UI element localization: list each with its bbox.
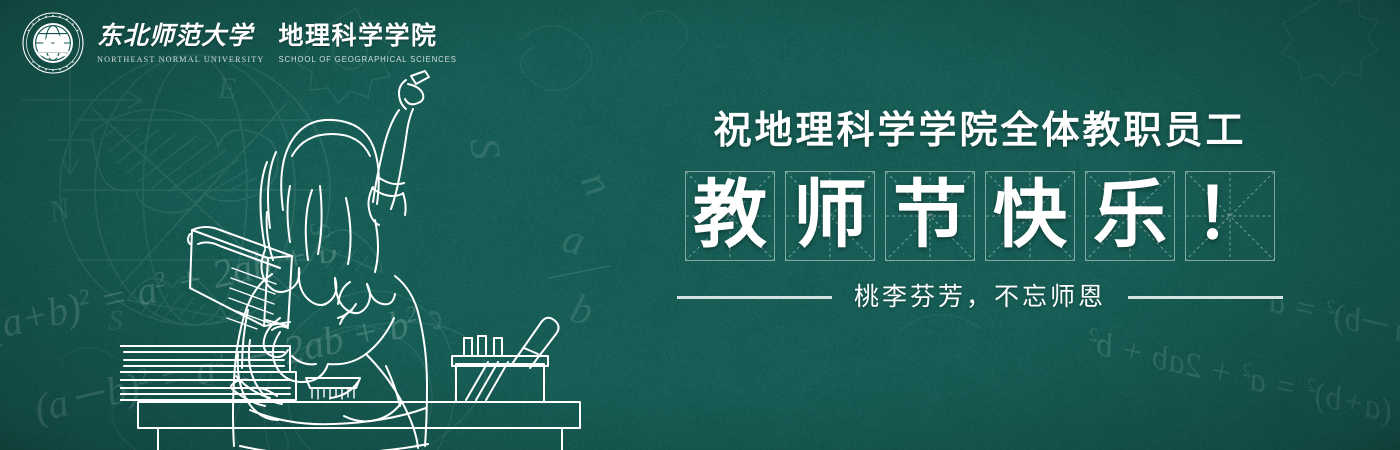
greeting-headline: 祝地理科学学院全体教职员工 [660,112,1300,150]
subtitle-rule-right [1128,296,1283,299]
greeting-cell: ！ [1185,171,1275,261]
teachers-day-banner: E N S S [0,0,1400,450]
greeting-char: 节 [893,179,967,253]
subtitle-rule-left [677,296,832,299]
greeting-char: 快 [993,179,1067,253]
greeting-cell: 教 [685,171,775,261]
school-name-cn: 地理科学学院 [278,24,456,50]
university-name-cn: 东北师范大学 [97,24,264,50]
university-name-en: NORTHEAST NORMAL UNIVERSITY [97,56,264,64]
school-name-group: 地理科学学院 SCHOOL OF GEOGRAPHICAL SCIENCES [278,24,456,64]
school-name-en: SCHOOL OF GEOGRAPHICAL SCIENCES [278,56,456,64]
greeting-block: 祝地理科学学院全体教职员工 教 [660,112,1300,310]
greeting-char: 教 [693,179,767,253]
subtitle-row: 桃李芬芳，不忘师恩 [660,285,1300,310]
university-name-group: 东北师范大学 NORTHEAST NORMAL UNIVERSITY [97,24,264,64]
greeting-char: 乐 [1093,179,1167,253]
greeting-char: ！ [1195,181,1265,251]
logo-block: 东北师范大学 NORTHEAST NORMAL UNIVERSITY 地理科学学… [22,12,457,74]
greeting-cell: 快 [985,171,1075,261]
teacher-illustration [120,60,600,450]
greeting-grid-row: 教 师 [660,171,1300,261]
greeting-char: 师 [793,179,867,253]
university-emblem-icon [22,12,84,74]
greeting-cell: 乐 [1085,171,1175,261]
greeting-cell: 师 [785,171,875,261]
logo-text: 东北师范大学 NORTHEAST NORMAL UNIVERSITY 地理科学学… [97,22,457,64]
subtitle-text: 桃李芬芳，不忘师恩 [854,285,1106,310]
greeting-cell: 节 [885,171,975,261]
